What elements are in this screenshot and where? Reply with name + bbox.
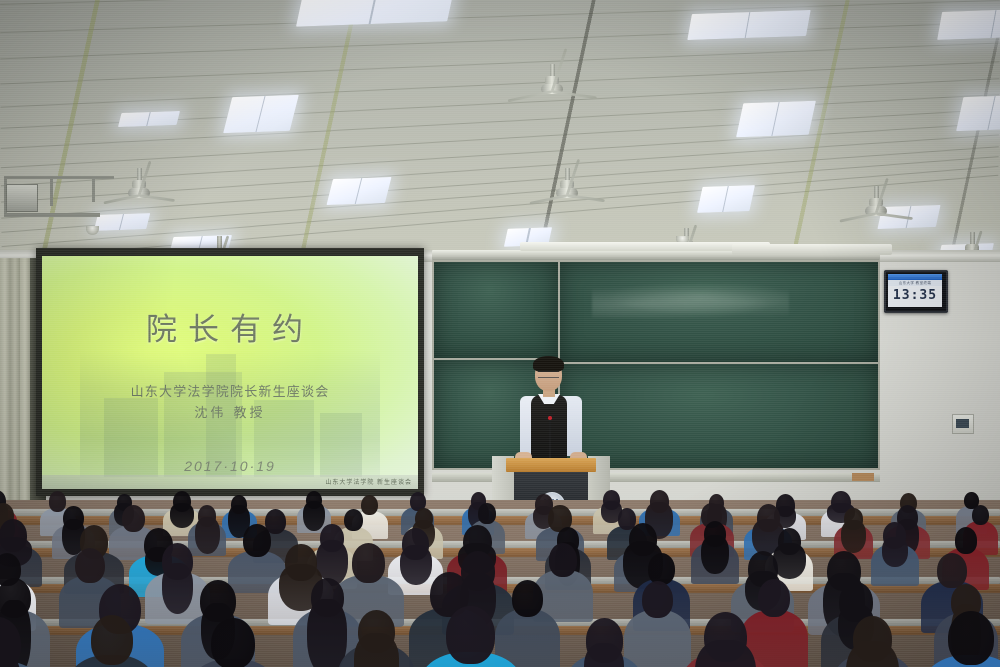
chalk-residue (592, 284, 789, 318)
ceiling-light-panel (687, 10, 810, 40)
audience-member-head (758, 579, 790, 617)
board-light-fixture (732, 244, 892, 255)
audience-member-head (344, 509, 363, 531)
slide-presenter: 沈伟 教授 (42, 402, 418, 421)
audience-member-head (75, 548, 105, 583)
audience-member-head (361, 495, 378, 515)
audience-member-head (948, 611, 994, 665)
slide-date: 2017·10·19 (42, 458, 418, 474)
audience-member-hair (841, 520, 866, 553)
chalkboard-panel (558, 260, 880, 364)
suspended-ceiling (0, 0, 1000, 268)
audience-member-hair (701, 535, 728, 574)
audience-member-hair (195, 517, 220, 554)
audience-member-head (478, 503, 495, 523)
audience-member-hair (162, 563, 194, 614)
ceiling-light-panel (956, 95, 1000, 131)
audience-member-head (955, 527, 977, 553)
ceiling-light-panel (223, 95, 299, 133)
slide-title: 院长有约 (42, 304, 418, 349)
ceiling-fan (110, 168, 168, 210)
slide-taskbar: 山东大学法学院 新生座谈会 (42, 475, 418, 489)
presenter-hair (533, 356, 564, 372)
ceiling-fan (846, 186, 906, 228)
projection-screen-frame: 院长有约 山东大学法学院院长新生座谈会 沈伟 教授 2017·10·19 山东大… (36, 248, 424, 496)
ceiling-light-panel (326, 177, 391, 205)
audience-member-head (937, 553, 966, 588)
clock-time: 13:35 (888, 286, 942, 306)
audience-member-head (972, 505, 989, 525)
audience-member-hair (307, 599, 347, 667)
projector-mount-rig (4, 176, 116, 222)
projector-device (6, 184, 38, 212)
panel-screen-icon (956, 419, 969, 428)
audience-member-head (211, 618, 254, 667)
audience-member-hair (354, 633, 399, 667)
slide-subtitle: 山东大学法学院院长新生座谈会 (42, 381, 418, 400)
presenter (497, 358, 602, 463)
audience-member-head (91, 615, 133, 665)
audience-member-head (549, 543, 577, 576)
ceiling-light-panel (697, 185, 755, 213)
glasses-icon (538, 371, 559, 378)
audience-member-hair (882, 537, 907, 567)
ceiling-fan (536, 168, 598, 210)
audience-member-head (243, 524, 271, 557)
wall-clock-display[interactable]: 山东大学 教室终端 13:35 (884, 270, 948, 313)
audience-member-head (49, 491, 66, 511)
audience-member-head (446, 606, 495, 663)
lectern-desktop (506, 458, 596, 472)
audience-member-hair (400, 545, 432, 585)
chalkboard-panel (432, 260, 560, 360)
audience-member-body (624, 610, 691, 667)
ceiling-light-panel (937, 8, 1000, 40)
audience-member-hair (170, 503, 194, 528)
wall-control-panel[interactable] (952, 414, 974, 434)
lecture-hall-photo: 院长有约 山东大学法学院院长新生座谈会 沈伟 教授 2017·10·19 山东大… (0, 0, 1000, 667)
audience-member-head (512, 580, 543, 617)
audience-member-hair (303, 501, 325, 532)
ceiling-light-panel (118, 111, 180, 127)
audience-member-head (648, 553, 675, 585)
audience-member-head (642, 581, 674, 618)
chalk-box (852, 473, 874, 481)
ceiling-light-panel (736, 101, 816, 137)
clock-screen: 山东大学 教室终端 13:35 (888, 274, 942, 307)
slide-taskbar-text: 山东大学法学院 新生座谈会 (325, 477, 412, 486)
audience-member-head (352, 543, 386, 583)
ceiling-fan (516, 64, 588, 106)
audience-member-head (122, 505, 145, 532)
projection-screen: 院长有约 山东大学法学院院长新生座谈会 沈伟 教授 2017·10·19 山东大… (42, 256, 418, 489)
